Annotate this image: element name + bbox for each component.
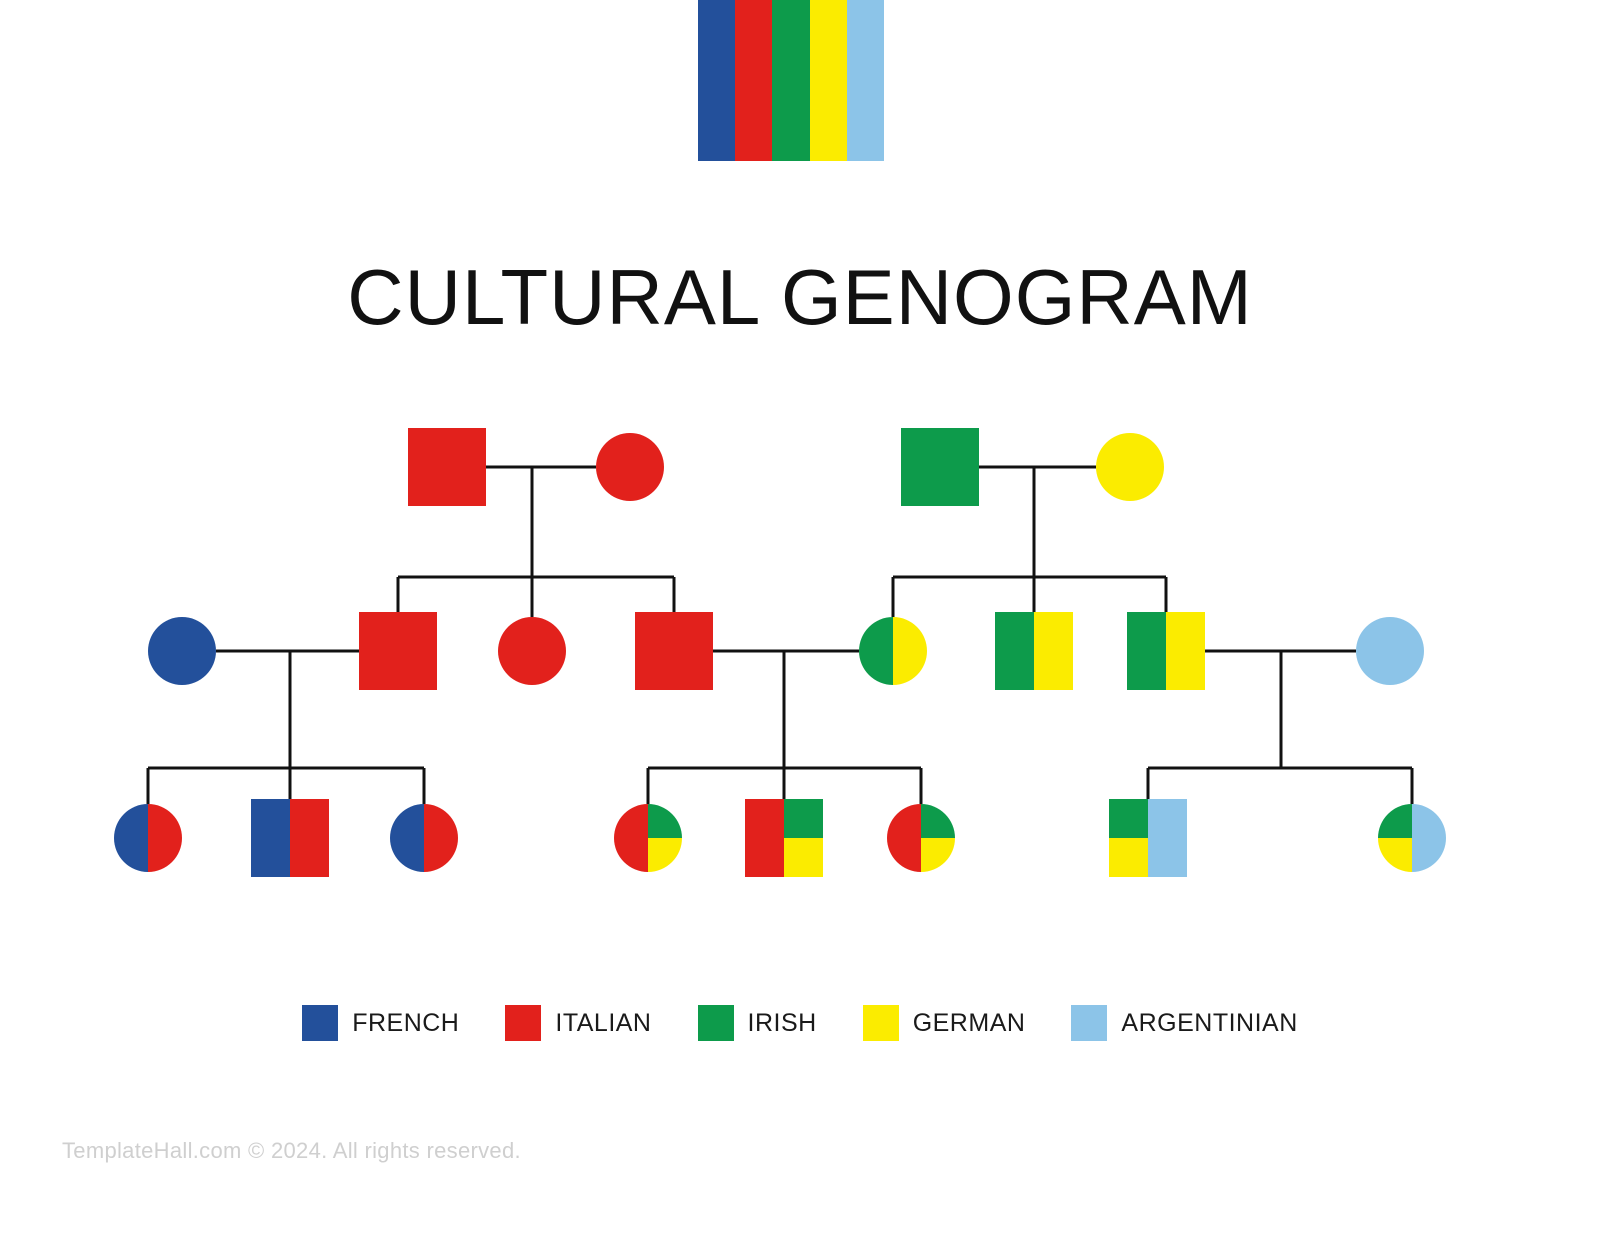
node-fill-french-left: [390, 804, 424, 872]
legend-label-irish: IRISH: [748, 1009, 817, 1038]
genogram-page: CULTURAL GENOGRAM FRENCHITALIANIRISHGERM…: [0, 0, 1600, 1236]
legend: FRENCHITALIANIRISHGERMANARGENTINIAN: [0, 1005, 1600, 1041]
node-fill-italian-full: [635, 612, 713, 690]
node-fill-irish-top-right: [784, 799, 823, 838]
node-fill-italian-left: [614, 804, 648, 872]
genogram-node-french-italian-female[interactable]: [390, 804, 458, 872]
genogram-node-irish-german-male-child[interactable]: [1127, 612, 1205, 690]
legend-swatch-argentinian: [1071, 1005, 1107, 1041]
node-fill-irish-left: [859, 617, 893, 685]
genogram-node-italian-irish-german-female[interactable]: [887, 804, 955, 872]
node-fill-german-bottom-left: [1109, 838, 1148, 877]
genogram-node-french-italian-female[interactable]: [114, 804, 182, 872]
node-fill-group: [1127, 612, 1205, 690]
genogram-node-argentinian-female-spouse[interactable]: [1356, 617, 1424, 685]
node-fill-group: [1096, 433, 1164, 501]
node-fill-group: [1378, 804, 1446, 872]
node-fill-german-right: [1034, 612, 1073, 690]
node-fill-italian-full: [596, 433, 664, 501]
node-fill-italian-full: [498, 617, 566, 685]
legend-label-french: FRENCH: [352, 1009, 459, 1038]
genogram-node-irish-german-argentinian-male[interactable]: [1109, 799, 1187, 877]
node-fill-german-bottom-right: [648, 838, 682, 872]
node-fill-group: [745, 799, 823, 877]
node-fill-group: [859, 617, 927, 685]
node-fill-italian-right: [290, 799, 329, 877]
legend-item-argentinian[interactable]: ARGENTINIAN: [1071, 1005, 1297, 1041]
node-fill-italian-left: [745, 799, 784, 877]
genogram-node-irish-german-argentinian-female[interactable]: [1378, 804, 1446, 872]
legend-item-french[interactable]: FRENCH: [302, 1005, 459, 1041]
genogram-node-french-italian-male[interactable]: [251, 799, 329, 877]
node-fill-group: [148, 617, 216, 685]
footer-copyright: TemplateHall.com © 2024. All rights rese…: [62, 1138, 521, 1164]
genogram-node-irish-german-male-child[interactable]: [995, 612, 1073, 690]
node-fill-irish-left: [995, 612, 1034, 690]
legend-swatch-french: [302, 1005, 338, 1041]
node-fill-argentinian-full: [1356, 617, 1424, 685]
node-fill-irish-full: [901, 428, 979, 506]
node-fill-group: [635, 612, 713, 690]
node-fill-italian-full: [359, 612, 437, 690]
node-fill-group: [614, 804, 682, 872]
node-fill-group: [901, 428, 979, 506]
node-fill-group: [251, 799, 329, 877]
node-fill-group: [408, 428, 486, 506]
genogram-node-german-female[interactable]: [1096, 433, 1164, 501]
node-fill-italian-left: [887, 804, 921, 872]
genogram-node-italian-irish-german-female[interactable]: [614, 804, 682, 872]
genogram-node-italian-female[interactable]: [596, 433, 664, 501]
node-fill-group: [498, 617, 566, 685]
legend-swatch-irish: [698, 1005, 734, 1041]
node-fill-french-full: [148, 617, 216, 685]
legend-label-argentinian: ARGENTINIAN: [1121, 1009, 1297, 1038]
node-fill-group: [995, 612, 1073, 690]
genogram-node-italian-female-child[interactable]: [498, 617, 566, 685]
genogram-node-irish-german-female-child[interactable]: [859, 617, 927, 685]
node-fill-group: [114, 804, 182, 872]
node-fill-group: [359, 612, 437, 690]
node-fill-french-left: [251, 799, 290, 877]
node-fill-german-right: [1166, 612, 1205, 690]
connector-layer: [148, 467, 1412, 804]
node-fill-group: [1109, 799, 1187, 877]
genogram-node-italian-male[interactable]: [408, 428, 486, 506]
legend-swatch-italian: [505, 1005, 541, 1041]
node-fill-italian-full: [408, 428, 486, 506]
legend-swatch-german: [863, 1005, 899, 1041]
genogram-node-italian-irish-german-male[interactable]: [745, 799, 823, 877]
node-fill-irish-left: [1127, 612, 1166, 690]
legend-item-german[interactable]: GERMAN: [863, 1005, 1026, 1041]
node-fill-irish-top-left: [1109, 799, 1148, 838]
node-fill-argentinian-right: [1412, 804, 1446, 872]
node-fill-group: [1356, 617, 1424, 685]
node-fill-german-bottom-right: [784, 838, 823, 877]
node-fill-irish-top-right: [921, 804, 955, 838]
node-fill-german-full: [1096, 433, 1164, 501]
node-fill-group: [887, 804, 955, 872]
node-fill-german-bottom-left: [1378, 838, 1412, 872]
node-fill-group: [596, 433, 664, 501]
node-fill-irish-top-right: [648, 804, 682, 838]
genogram-tree: [0, 0, 1600, 1236]
node-fill-french-left: [114, 804, 148, 872]
genogram-node-italian-male-child[interactable]: [635, 612, 713, 690]
genogram-node-irish-male[interactable]: [901, 428, 979, 506]
node-fill-italian-right: [424, 804, 458, 872]
legend-item-italian[interactable]: ITALIAN: [505, 1005, 651, 1041]
node-fill-irish-top-left: [1378, 804, 1412, 838]
node-fill-german-bottom-right: [921, 838, 955, 872]
node-fill-group: [390, 804, 458, 872]
node-fill-argentinian-right: [1148, 799, 1187, 877]
genogram-node-italian-male-child[interactable]: [359, 612, 437, 690]
legend-item-irish[interactable]: IRISH: [698, 1005, 817, 1041]
node-fill-german-right: [893, 617, 927, 685]
legend-label-german: GERMAN: [913, 1009, 1026, 1038]
node-fill-italian-right: [148, 804, 182, 872]
legend-label-italian: ITALIAN: [555, 1009, 651, 1038]
genogram-node-french-female-spouse[interactable]: [148, 617, 216, 685]
